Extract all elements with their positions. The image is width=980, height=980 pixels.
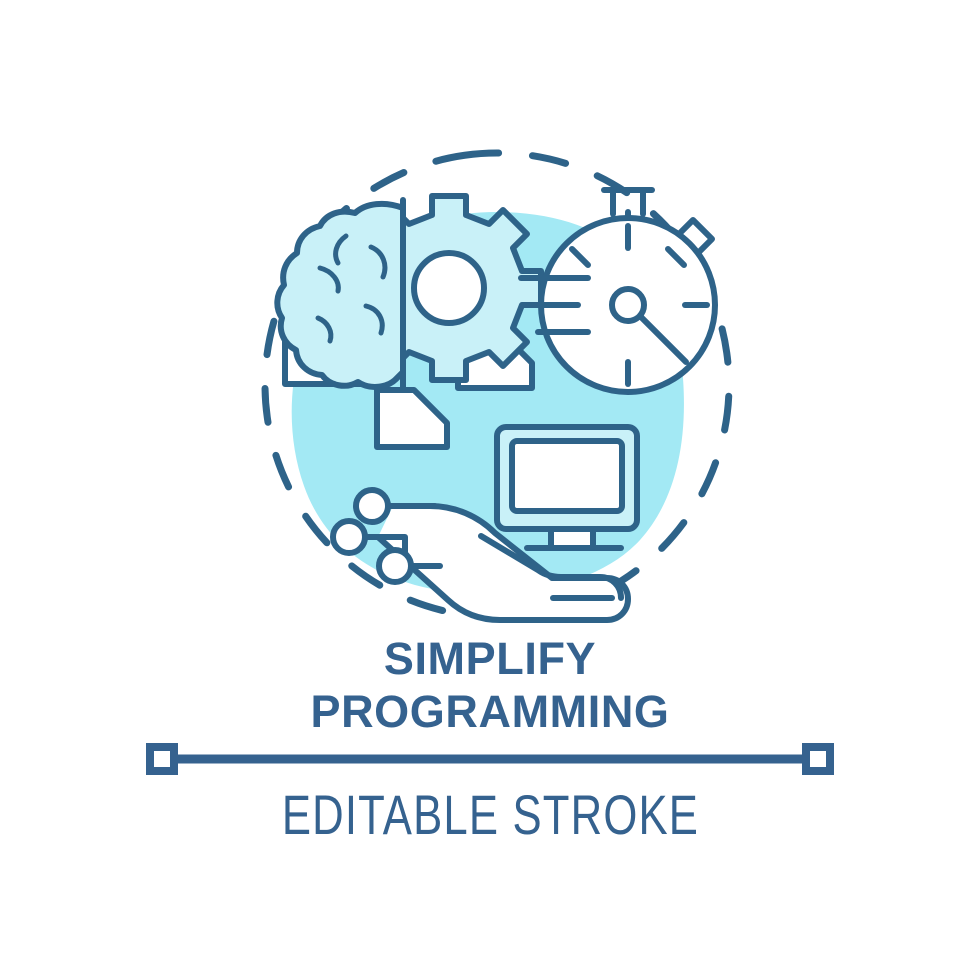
divider-left-square-marker: [150, 747, 174, 771]
stopwatch-icon: [541, 190, 715, 392]
page-root: SIMPLIFY PROGRAMMING EDITABLE STROKE: [0, 0, 980, 980]
divider-line: [150, 747, 830, 771]
divider-right-square-marker: [806, 747, 830, 771]
editable-stroke-label: EDITABLE STROKE: [0, 784, 980, 846]
brain-icon: [277, 200, 403, 387]
computer-monitor-icon: [497, 427, 637, 548]
editable-stroke-text: EDITABLE STROKE: [281, 784, 698, 846]
